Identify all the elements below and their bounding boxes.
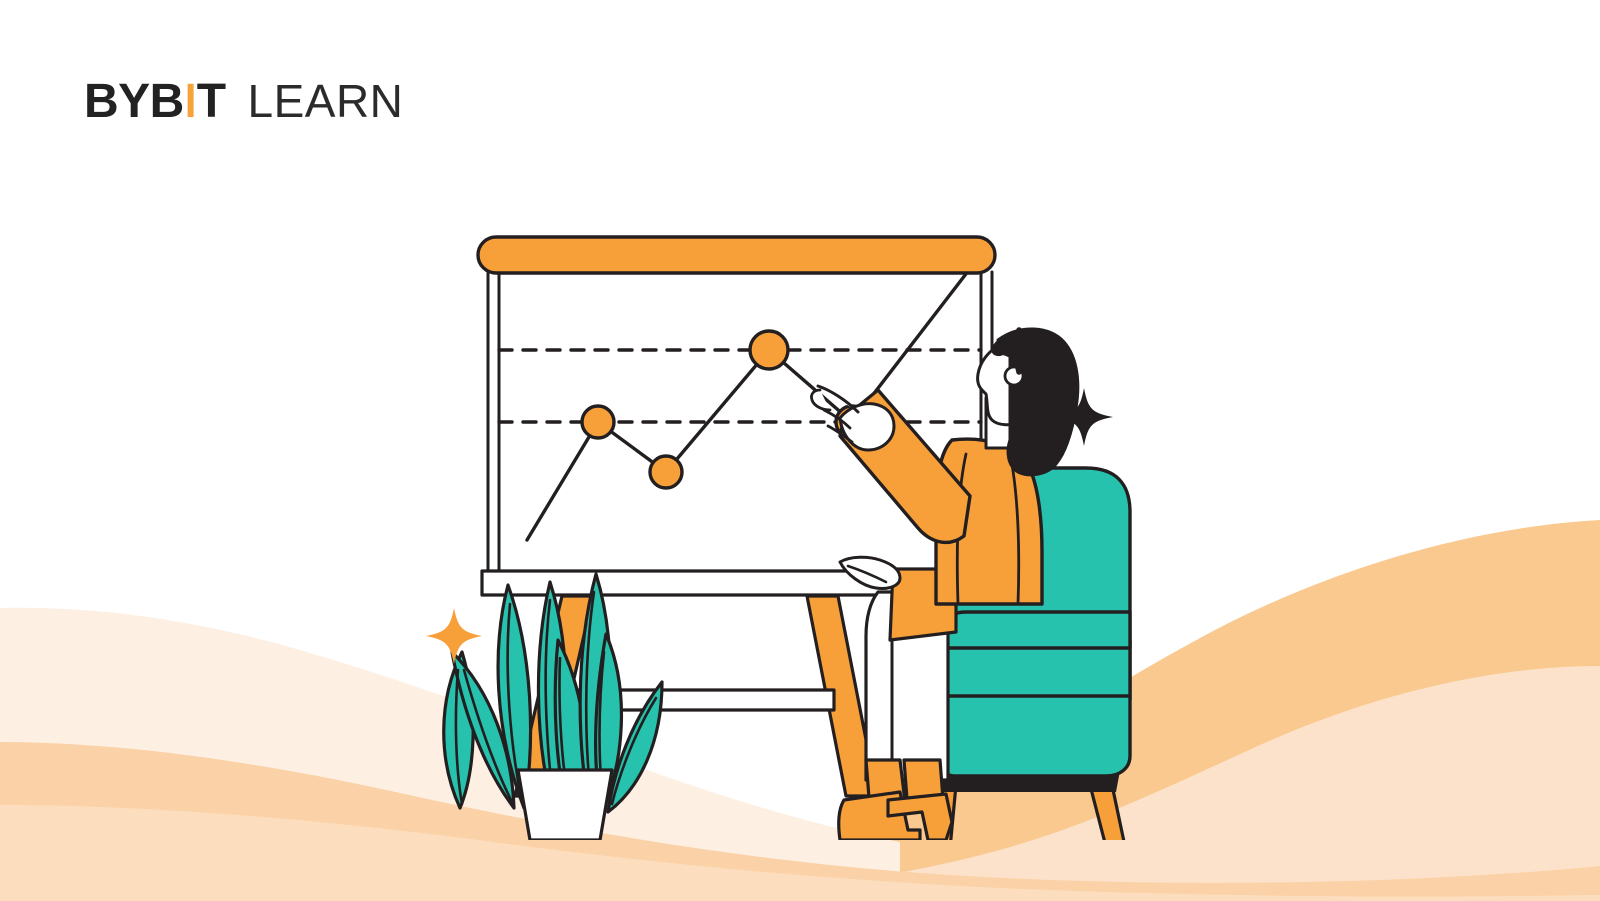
logo-brand-part2: T <box>197 78 226 126</box>
logo-sub-label: LEARN <box>248 78 404 124</box>
hero-illustration <box>400 200 1180 840</box>
plant-pot <box>518 770 612 840</box>
logo-brand-accent: I <box>185 78 196 126</box>
easel-top-bar <box>478 237 995 273</box>
chair-seat <box>934 640 1130 776</box>
chart-marker-3[interactable] <box>750 331 788 369</box>
chair-arm <box>934 612 1130 648</box>
sparkle-orange-icon <box>426 608 482 664</box>
board-panel <box>499 245 981 583</box>
chair-leg-back <box>1090 785 1130 840</box>
banner-page: BYBIT LEARN <box>0 0 1600 901</box>
bybit-learn-logo[interactable]: BYBIT LEARN <box>84 78 403 126</box>
chart-marker-1[interactable] <box>582 406 614 438</box>
logo-brand-part1: BYB <box>84 78 184 126</box>
chart-marker-2[interactable] <box>650 456 682 488</box>
